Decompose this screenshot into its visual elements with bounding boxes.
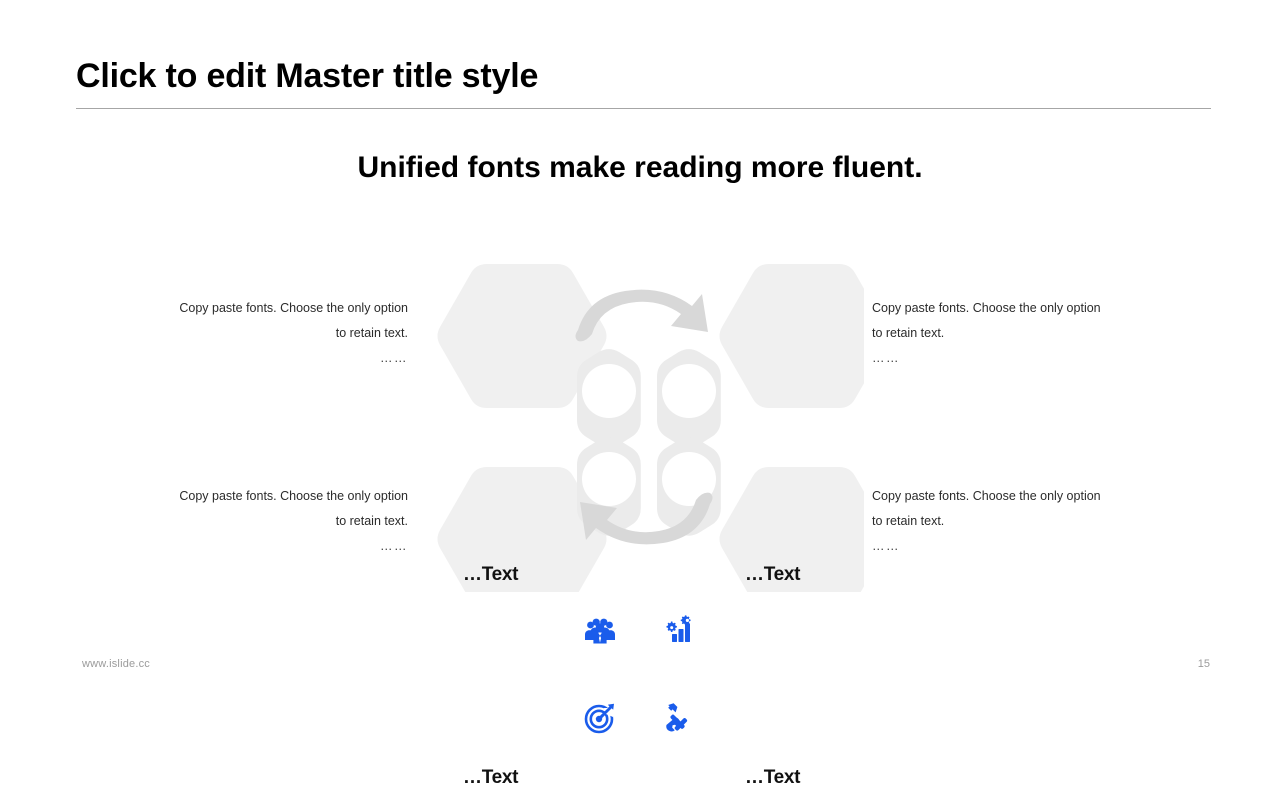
body-ellipsis: ……: [140, 346, 408, 371]
body-text-right-top: Copy paste fonts. Choose the only option…: [872, 296, 1140, 371]
body-ellipsis: ……: [872, 534, 1140, 559]
body-line-1: Copy paste fonts. Choose the only option: [872, 296, 1140, 321]
page-number: 15: [1150, 658, 1210, 670]
footer-url[interactable]: www.islide.cc: [82, 658, 150, 670]
body-line-1: Copy paste fonts. Choose the only option: [140, 296, 408, 321]
page-title: Click to edit Master title style: [76, 52, 1211, 100]
icon-circle-top-left: [582, 364, 636, 418]
slide-subtitle: Unified fonts make reading more fluent.: [0, 146, 1280, 190]
body-text-left-bottom: Copy paste fonts. Choose the only option…: [140, 484, 408, 559]
icon-circle-bottom-left: [582, 452, 636, 506]
hexagon-cycle-diagram: …Text …Text …Text …Text: [420, 248, 864, 592]
hexagon-top-right: [720, 264, 865, 408]
title-divider: [76, 108, 1211, 109]
hexagon-label-top-right: …Text: [745, 564, 800, 586]
body-line-2: to retain text.: [140, 321, 408, 346]
bar-chart-gear-icon[interactable]: [658, 608, 702, 652]
body-line-2: to retain text.: [872, 321, 1140, 346]
hexagon-label-top-left: …Text: [463, 564, 518, 586]
body-line-1: Copy paste fonts. Choose the only option: [140, 484, 408, 509]
body-text-right-bottom: Copy paste fonts. Choose the only option…: [872, 484, 1140, 559]
body-line-2: to retain text.: [872, 509, 1140, 534]
target-icon[interactable]: [578, 696, 622, 740]
body-ellipsis: ……: [140, 534, 408, 559]
team-icon[interactable]: [578, 608, 622, 652]
body-ellipsis: ……: [872, 346, 1140, 371]
body-text-left-top: Copy paste fonts. Choose the only option…: [140, 296, 408, 371]
body-line-2: to retain text.: [140, 509, 408, 534]
hexagon-label-bottom-right: …Text: [745, 767, 800, 789]
body-line-1: Copy paste fonts. Choose the only option: [872, 484, 1140, 509]
tools-icon[interactable]: [658, 696, 702, 740]
icon-circle-top-right: [662, 364, 716, 418]
hexagon-label-bottom-left: …Text: [463, 767, 518, 789]
